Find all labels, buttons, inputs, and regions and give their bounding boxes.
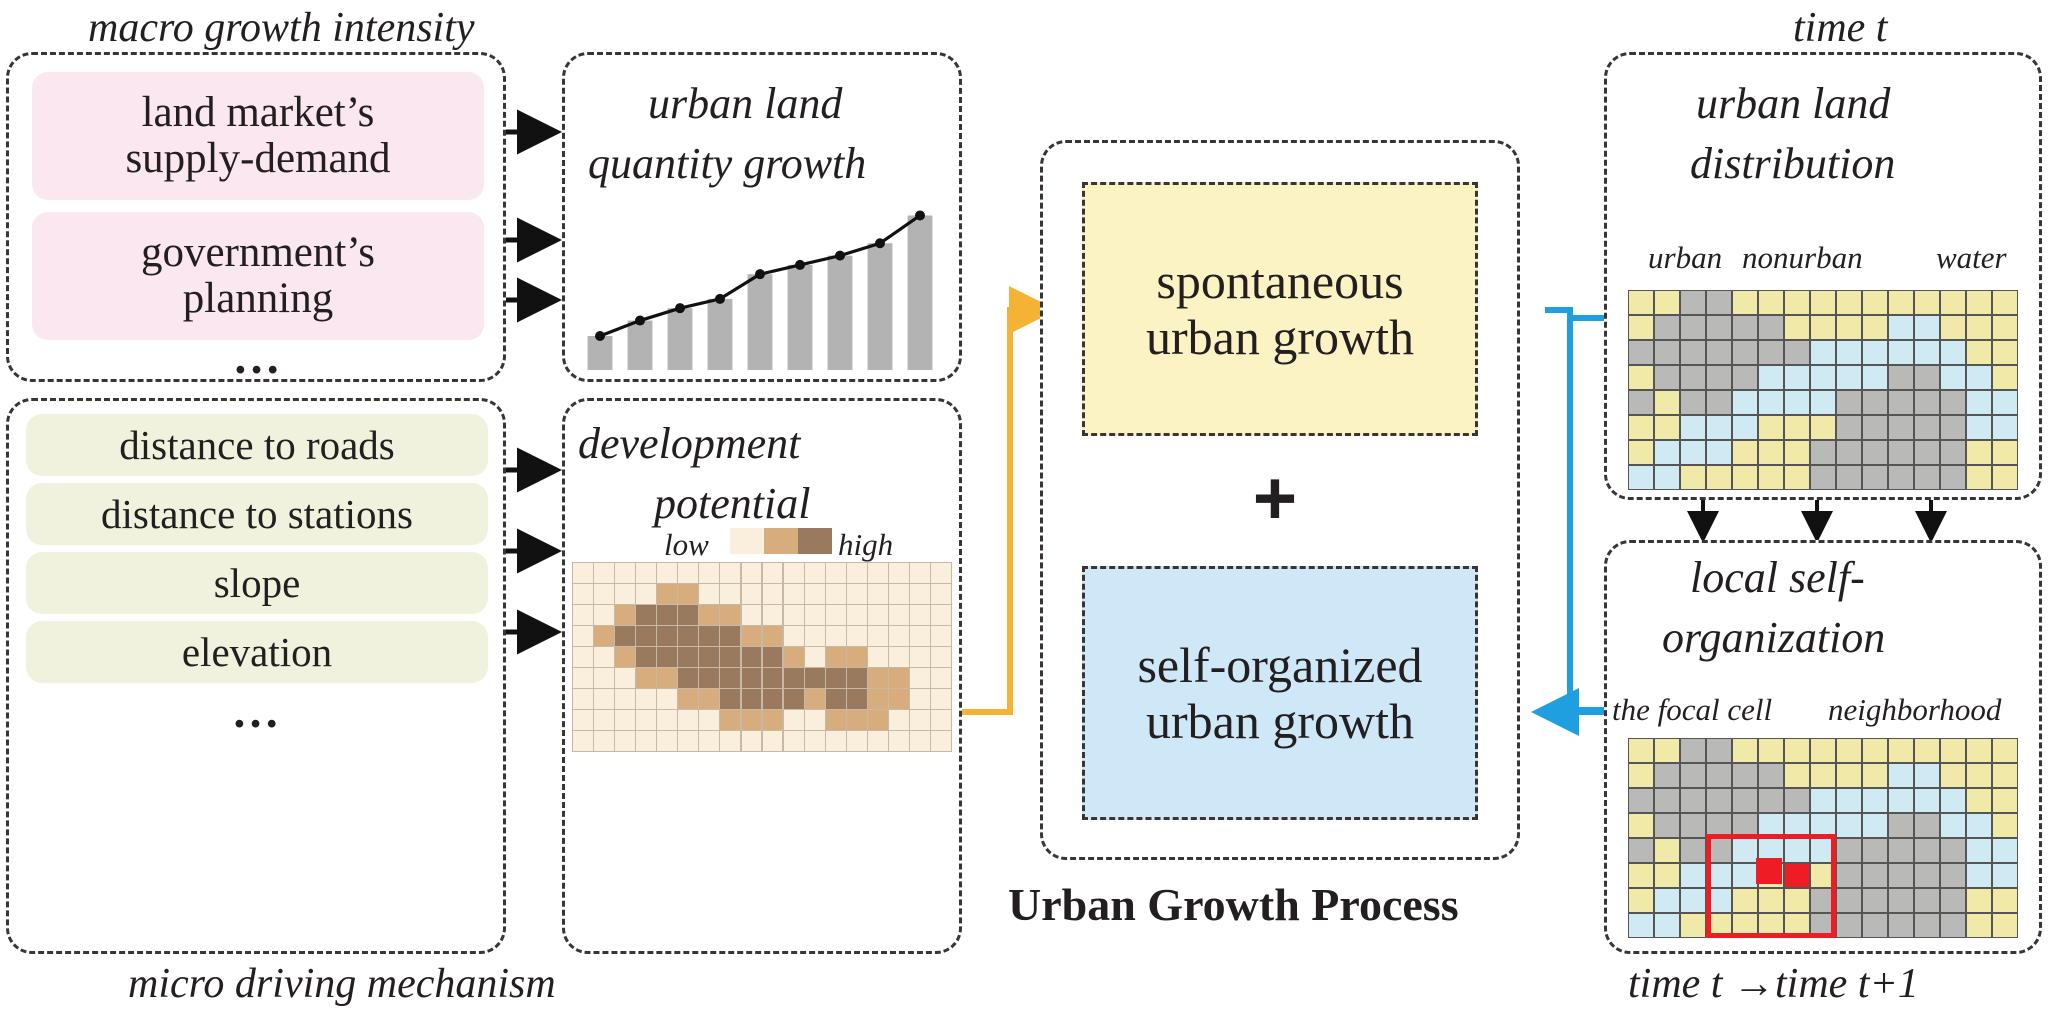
map-top-cell[interactable] xyxy=(1629,366,1653,389)
map-bottom-cell[interactable] xyxy=(1967,789,1991,812)
heatmap-cell[interactable] xyxy=(699,668,719,688)
map-bottom-cell[interactable] xyxy=(1681,864,1705,887)
map-bottom-cell[interactable] xyxy=(1967,739,1991,762)
self-organized-urban-growth-box[interactable]: self-organized urban growth xyxy=(1082,566,1478,820)
heatmap-cell[interactable] xyxy=(868,626,888,646)
map-bottom-cell[interactable] xyxy=(1655,739,1679,762)
heatmap-cell[interactable] xyxy=(636,668,656,688)
map-bottom-cell[interactable] xyxy=(1681,764,1705,787)
map-bottom-cell[interactable] xyxy=(1967,889,1991,912)
heatmap-cell[interactable] xyxy=(847,668,867,688)
map-bottom-cell[interactable] xyxy=(1681,839,1705,862)
heatmap-cell[interactable] xyxy=(742,563,762,583)
map-bottom-cell[interactable] xyxy=(1889,914,1913,937)
heatmap-cell[interactable] xyxy=(931,710,951,730)
heatmap-cell[interactable] xyxy=(657,626,677,646)
heatmap-cell[interactable] xyxy=(784,710,804,730)
map-bottom-cell[interactable] xyxy=(1629,839,1653,862)
heatmap-cell[interactable] xyxy=(784,626,804,646)
heatmap-cell[interactable] xyxy=(636,626,656,646)
map-top-cell[interactable] xyxy=(1889,466,1913,489)
map-bottom-cell[interactable] xyxy=(1915,889,1939,912)
map-bottom-cell[interactable] xyxy=(1941,739,1965,762)
map-bottom-cell[interactable] xyxy=(1941,914,1965,937)
map-bottom-cell[interactable] xyxy=(1837,814,1861,837)
heatmap-cell[interactable] xyxy=(868,689,888,709)
map-top-cell[interactable] xyxy=(1759,416,1783,439)
map-bottom-cell[interactable] xyxy=(1915,839,1939,862)
map-top-cell[interactable] xyxy=(1941,416,1965,439)
map-bottom-cell[interactable] xyxy=(1967,864,1991,887)
map-bottom-cell[interactable] xyxy=(1707,739,1731,762)
heatmap-cell[interactable] xyxy=(594,710,614,730)
heatmap-cell[interactable] xyxy=(805,710,825,730)
map-bottom-cell[interactable] xyxy=(1837,839,1861,862)
map-top-cell[interactable] xyxy=(1707,441,1731,464)
heatmap-cell[interactable] xyxy=(826,605,846,625)
heatmap-cell[interactable] xyxy=(763,731,783,751)
heatmap-cell[interactable] xyxy=(763,647,783,667)
heatmap-cell[interactable] xyxy=(784,584,804,604)
map-top-cell[interactable] xyxy=(1707,291,1731,314)
map-bottom-cell[interactable] xyxy=(1655,914,1679,937)
map-top-cell[interactable] xyxy=(1629,291,1653,314)
map-top-cell[interactable] xyxy=(1811,291,1835,314)
map-bottom-cell[interactable] xyxy=(1629,814,1653,837)
micro-item-elevation[interactable]: elevation xyxy=(26,621,488,683)
heatmap-cell[interactable] xyxy=(931,731,951,751)
heatmap-cell[interactable] xyxy=(742,647,762,667)
map-bottom-cell[interactable] xyxy=(1915,814,1939,837)
map-top-cell[interactable] xyxy=(1811,441,1835,464)
heatmap-cell[interactable] xyxy=(763,563,783,583)
map-bottom-cell[interactable] xyxy=(1967,764,1991,787)
heatmap-cell[interactable] xyxy=(594,689,614,709)
map-top-cell[interactable] xyxy=(1993,291,2017,314)
map-top-cell[interactable] xyxy=(1889,366,1913,389)
heatmap-cell[interactable] xyxy=(657,563,677,583)
heatmap-cell[interactable] xyxy=(678,647,698,667)
map-top-cell[interactable] xyxy=(1707,341,1731,364)
map-top-cell[interactable] xyxy=(1837,366,1861,389)
heatmap-cell[interactable] xyxy=(868,647,888,667)
heatmap-cell[interactable] xyxy=(868,731,888,751)
map-top-cell[interactable] xyxy=(1967,366,1991,389)
map-top-cell[interactable] xyxy=(1785,341,1809,364)
map-top-cell[interactable] xyxy=(1759,466,1783,489)
map-top-cell[interactable] xyxy=(1889,341,1913,364)
map-top-cell[interactable] xyxy=(1863,291,1887,314)
map-bottom-cell[interactable] xyxy=(1993,789,2017,812)
map-bottom-cell[interactable] xyxy=(1889,814,1913,837)
map-top-cell[interactable] xyxy=(1889,391,1913,414)
map-top-cell[interactable] xyxy=(1629,391,1653,414)
map-top-cell[interactable] xyxy=(1967,291,1991,314)
map-top-cell[interactable] xyxy=(1915,466,1939,489)
heatmap-cell[interactable] xyxy=(573,584,593,604)
heatmap-cell[interactable] xyxy=(573,626,593,646)
map-top-cell[interactable] xyxy=(1707,366,1731,389)
map-top-cell[interactable] xyxy=(1655,341,1679,364)
map-top-cell[interactable] xyxy=(1655,441,1679,464)
heatmap-cell[interactable] xyxy=(636,710,656,730)
heatmap-cell[interactable] xyxy=(742,668,762,688)
heatmap-cell[interactable] xyxy=(847,626,867,646)
heatmap-cell[interactable] xyxy=(889,584,909,604)
map-bottom-cell[interactable] xyxy=(1655,889,1679,912)
heatmap-cell[interactable] xyxy=(594,563,614,583)
heatmap-cell[interactable] xyxy=(615,605,635,625)
heatmap-cell[interactable] xyxy=(657,731,677,751)
heatmap-cell[interactable] xyxy=(868,563,888,583)
map-top-cell[interactable] xyxy=(1863,466,1887,489)
map-top-cell[interactable] xyxy=(1863,316,1887,339)
map-top-cell[interactable] xyxy=(1837,391,1861,414)
heatmap-cell[interactable] xyxy=(889,689,909,709)
heatmap-cell[interactable] xyxy=(678,689,698,709)
heatmap-cell[interactable] xyxy=(720,584,740,604)
map-top-cell[interactable] xyxy=(1837,291,1861,314)
heatmap-cell[interactable] xyxy=(910,668,930,688)
heatmap-cell[interactable] xyxy=(699,689,719,709)
map-top-cell[interactable] xyxy=(1655,366,1679,389)
map-top-cell[interactable] xyxy=(1655,416,1679,439)
map-bottom-cell[interactable] xyxy=(1941,789,1965,812)
heatmap-cell[interactable] xyxy=(636,731,656,751)
map-bottom-cell[interactable] xyxy=(1941,889,1965,912)
map-bottom-cell[interactable] xyxy=(1629,739,1653,762)
map-bottom-cell[interactable] xyxy=(1629,889,1653,912)
heatmap-cell[interactable] xyxy=(826,584,846,604)
heatmap-cell[interactable] xyxy=(763,605,783,625)
heatmap-cell[interactable] xyxy=(678,731,698,751)
map-bottom-cell[interactable] xyxy=(1655,839,1679,862)
map-bottom-cell[interactable] xyxy=(1655,864,1679,887)
map-top-cell[interactable] xyxy=(1889,291,1913,314)
heatmap-cell[interactable] xyxy=(573,563,593,583)
heatmap-cell[interactable] xyxy=(636,584,656,604)
map-bottom-cell[interactable] xyxy=(1863,789,1887,812)
heatmap-cell[interactable] xyxy=(889,605,909,625)
heatmap-cell[interactable] xyxy=(636,563,656,583)
heatmap-cell[interactable] xyxy=(847,605,867,625)
map-bottom-cell[interactable] xyxy=(1889,889,1913,912)
map-top-cell[interactable] xyxy=(1837,316,1861,339)
heatmap-cell[interactable] xyxy=(868,710,888,730)
map-bottom-cell[interactable] xyxy=(1681,789,1705,812)
heatmap-cell[interactable] xyxy=(868,605,888,625)
map-top-cell[interactable] xyxy=(1785,366,1809,389)
map-bottom-cell[interactable] xyxy=(1707,789,1731,812)
map-bottom-cell[interactable] xyxy=(1863,864,1887,887)
map-top-cell[interactable] xyxy=(1733,316,1757,339)
map-top-cell[interactable] xyxy=(1681,466,1705,489)
heatmap-cell[interactable] xyxy=(720,563,740,583)
heatmap-cell[interactable] xyxy=(910,605,930,625)
heatmap-cell[interactable] xyxy=(720,731,740,751)
map-top-cell[interactable] xyxy=(1681,341,1705,364)
map-bottom-cell[interactable] xyxy=(1837,914,1861,937)
heatmap-cell[interactable] xyxy=(763,710,783,730)
heatmap-cell[interactable] xyxy=(847,731,867,751)
heatmap-cell[interactable] xyxy=(678,668,698,688)
heatmap-cell[interactable] xyxy=(615,689,635,709)
map-bottom-cell[interactable] xyxy=(1655,814,1679,837)
map-top-cell[interactable] xyxy=(1759,291,1783,314)
map-bottom-cell[interactable] xyxy=(1629,789,1653,812)
map-top-cell[interactable] xyxy=(1681,391,1705,414)
map-bottom-cell[interactable] xyxy=(1811,739,1835,762)
heatmap-cell[interactable] xyxy=(805,668,825,688)
micro-item-distance-to-roads[interactable]: distance to roads xyxy=(26,414,488,476)
heatmap-cell[interactable] xyxy=(678,626,698,646)
map-top-cell[interactable] xyxy=(1629,416,1653,439)
map-top-cell[interactable] xyxy=(1941,291,1965,314)
map-bottom-cell[interactable] xyxy=(1733,789,1757,812)
map-bottom-cell[interactable] xyxy=(1811,764,1835,787)
heatmap-cell[interactable] xyxy=(931,689,951,709)
map-top-cell[interactable] xyxy=(1889,416,1913,439)
map-bottom-cell[interactable] xyxy=(1941,864,1965,887)
heatmap-cell[interactable] xyxy=(678,563,698,583)
map-top-cell[interactable] xyxy=(1785,441,1809,464)
heatmap-cell[interactable] xyxy=(763,668,783,688)
map-bottom-cell[interactable] xyxy=(1785,789,1809,812)
heatmap-cell[interactable] xyxy=(594,605,614,625)
map-bottom-cell[interactable] xyxy=(1993,764,2017,787)
map-bottom-cell[interactable] xyxy=(1759,739,1783,762)
heatmap-cell[interactable] xyxy=(826,563,846,583)
map-bottom-cell[interactable] xyxy=(1681,914,1705,937)
map-bottom-cell[interactable] xyxy=(1863,764,1887,787)
heatmap-cell[interactable] xyxy=(763,584,783,604)
heatmap-cell[interactable] xyxy=(742,605,762,625)
map-top-cell[interactable] xyxy=(1759,341,1783,364)
map-bottom-cell[interactable] xyxy=(1811,789,1835,812)
heatmap-cell[interactable] xyxy=(889,668,909,688)
heatmap-cell[interactable] xyxy=(805,689,825,709)
heatmap-cell[interactable] xyxy=(910,689,930,709)
map-top-cell[interactable] xyxy=(1993,341,2017,364)
map-bottom-cell[interactable] xyxy=(1785,739,1809,762)
map-top-cell[interactable] xyxy=(1785,291,1809,314)
heatmap-cell[interactable] xyxy=(826,647,846,667)
heatmap-cell[interactable] xyxy=(573,668,593,688)
map-bottom-cell[interactable] xyxy=(1837,764,1861,787)
heatmap-cell[interactable] xyxy=(805,731,825,751)
map-top-cell[interactable] xyxy=(1993,466,2017,489)
heatmap-cell[interactable] xyxy=(636,605,656,625)
map-top-cell[interactable] xyxy=(1629,441,1653,464)
map-top-cell[interactable] xyxy=(1967,466,1991,489)
map-top-cell[interactable] xyxy=(1915,341,1939,364)
map-bottom-cell[interactable] xyxy=(1681,814,1705,837)
map-bottom-cell[interactable] xyxy=(1967,814,1991,837)
heatmap-cell[interactable] xyxy=(573,605,593,625)
map-top-cell[interactable] xyxy=(1837,466,1861,489)
heatmap-cell[interactable] xyxy=(615,731,635,751)
map-top-cell[interactable] xyxy=(1707,391,1731,414)
heatmap-cell[interactable] xyxy=(784,668,804,688)
map-top-cell[interactable] xyxy=(1655,316,1679,339)
map-top-cell[interactable] xyxy=(1707,466,1731,489)
heatmap-cell[interactable] xyxy=(868,668,888,688)
map-top-cell[interactable] xyxy=(1993,366,2017,389)
heatmap-cell[interactable] xyxy=(805,626,825,646)
heatmap-cell[interactable] xyxy=(784,689,804,709)
macro-item-land-market[interactable]: land market’s supply-demand xyxy=(32,72,484,200)
map-top-cell[interactable] xyxy=(1863,416,1887,439)
map-top-cell[interactable] xyxy=(1811,391,1835,414)
map-bottom-cell[interactable] xyxy=(1785,764,1809,787)
heatmap-cell[interactable] xyxy=(699,605,719,625)
map-bottom-cell[interactable] xyxy=(1655,764,1679,787)
map-bottom-cell[interactable] xyxy=(1733,764,1757,787)
heatmap-cell[interactable] xyxy=(826,626,846,646)
map-top-cell[interactable] xyxy=(1733,441,1757,464)
map-bottom-cell[interactable] xyxy=(1941,764,1965,787)
heatmap-cell[interactable] xyxy=(573,710,593,730)
map-top-cell[interactable] xyxy=(1629,466,1653,489)
heatmap-cell[interactable] xyxy=(910,647,930,667)
map-top-cell[interactable] xyxy=(1889,316,1913,339)
map-top-cell[interactable] xyxy=(1629,341,1653,364)
heatmap-cell[interactable] xyxy=(868,584,888,604)
map-top-cell[interactable] xyxy=(1993,316,2017,339)
heatmap-cell[interactable] xyxy=(678,584,698,604)
map-bottom-cell[interactable] xyxy=(1993,814,2017,837)
map-top-cell[interactable] xyxy=(1863,366,1887,389)
map-bottom-cell[interactable] xyxy=(1915,739,1939,762)
heatmap-cell[interactable] xyxy=(805,584,825,604)
map-top-cell[interactable] xyxy=(1759,391,1783,414)
heatmap-cell[interactable] xyxy=(720,710,740,730)
heatmap-cell[interactable] xyxy=(889,731,909,751)
heatmap-cell[interactable] xyxy=(889,626,909,646)
heatmap-cell[interactable] xyxy=(742,584,762,604)
heatmap-cell[interactable] xyxy=(763,626,783,646)
map-bottom-cell[interactable] xyxy=(1655,789,1679,812)
map-top-cell[interactable] xyxy=(1759,316,1783,339)
heatmap-cell[interactable] xyxy=(657,647,677,667)
map-top-cell[interactable] xyxy=(1967,316,1991,339)
heatmap-cell[interactable] xyxy=(657,584,677,604)
map-bottom-cell[interactable] xyxy=(1993,839,2017,862)
heatmap-cell[interactable] xyxy=(699,563,719,583)
heatmap-cell[interactable] xyxy=(931,626,951,646)
map-bottom-cell[interactable] xyxy=(1863,914,1887,937)
map-top-cell[interactable] xyxy=(1993,391,2017,414)
map-bottom-cell[interactable] xyxy=(1629,914,1653,937)
map-top-cell[interactable] xyxy=(1785,316,1809,339)
heatmap-cell[interactable] xyxy=(678,605,698,625)
map-top-cell[interactable] xyxy=(1941,466,1965,489)
map-bottom-cell[interactable] xyxy=(1993,889,2017,912)
map-top-cell[interactable] xyxy=(1915,441,1939,464)
map-bottom-cell[interactable] xyxy=(1707,764,1731,787)
map-top-cell[interactable] xyxy=(1681,441,1705,464)
map-top-cell[interactable] xyxy=(1941,391,1965,414)
heatmap-cell[interactable] xyxy=(594,584,614,604)
heatmap-cell[interactable] xyxy=(784,647,804,667)
urban-land-distribution-map[interactable] xyxy=(1628,290,2018,490)
map-top-cell[interactable] xyxy=(1993,416,2017,439)
map-bottom-cell[interactable] xyxy=(1759,764,1783,787)
heatmap-cell[interactable] xyxy=(594,731,614,751)
heatmap-cell[interactable] xyxy=(657,689,677,709)
heatmap-cell[interactable] xyxy=(573,689,593,709)
map-bottom-cell[interactable] xyxy=(1629,864,1653,887)
heatmap-cell[interactable] xyxy=(742,731,762,751)
map-top-cell[interactable] xyxy=(1681,316,1705,339)
map-bottom-cell[interactable] xyxy=(1863,839,1887,862)
heatmap-cell[interactable] xyxy=(636,689,656,709)
heatmap-cell[interactable] xyxy=(931,647,951,667)
map-top-cell[interactable] xyxy=(1915,316,1939,339)
map-top-cell[interactable] xyxy=(1733,416,1757,439)
map-top-cell[interactable] xyxy=(1915,391,1939,414)
map-bottom-cell[interactable] xyxy=(1837,864,1861,887)
heatmap-cell[interactable] xyxy=(805,647,825,667)
map-top-cell[interactable] xyxy=(1655,466,1679,489)
heatmap-cell[interactable] xyxy=(699,647,719,667)
map-bottom-cell[interactable] xyxy=(1733,739,1757,762)
heatmap-cell[interactable] xyxy=(784,605,804,625)
map-top-cell[interactable] xyxy=(1811,466,1835,489)
heatmap-cell[interactable] xyxy=(784,563,804,583)
heatmap-cell[interactable] xyxy=(594,647,614,667)
heatmap-cell[interactable] xyxy=(805,563,825,583)
heatmap-cell[interactable] xyxy=(931,605,951,625)
heatmap-cell[interactable] xyxy=(636,647,656,667)
spontaneous-urban-growth-box[interactable]: spontaneous urban growth xyxy=(1082,182,1478,436)
map-top-cell[interactable] xyxy=(1993,441,2017,464)
map-top-cell[interactable] xyxy=(1733,391,1757,414)
heatmap-cell[interactable] xyxy=(720,689,740,709)
map-top-cell[interactable] xyxy=(1941,341,1965,364)
map-top-cell[interactable] xyxy=(1941,441,1965,464)
map-bottom-cell[interactable] xyxy=(1993,914,2017,937)
map-top-cell[interactable] xyxy=(1733,366,1757,389)
heatmap-cell[interactable] xyxy=(889,647,909,667)
heatmap-cell[interactable] xyxy=(826,731,846,751)
heatmap-cell[interactable] xyxy=(889,563,909,583)
map-bottom-cell[interactable] xyxy=(1759,789,1783,812)
map-top-cell[interactable] xyxy=(1811,316,1835,339)
map-bottom-cell[interactable] xyxy=(1915,789,1939,812)
map-bottom-cell[interactable] xyxy=(1993,739,2017,762)
map-bottom-cell[interactable] xyxy=(1967,914,1991,937)
map-bottom-cell[interactable] xyxy=(1889,739,1913,762)
heatmap-cell[interactable] xyxy=(615,710,635,730)
heatmap-cell[interactable] xyxy=(910,731,930,751)
map-top-cell[interactable] xyxy=(1785,391,1809,414)
heatmap-cell[interactable] xyxy=(931,563,951,583)
heatmap-cell[interactable] xyxy=(699,584,719,604)
map-top-cell[interactable] xyxy=(1837,341,1861,364)
heatmap-cell[interactable] xyxy=(594,668,614,688)
heatmap-cell[interactable] xyxy=(931,584,951,604)
map-top-cell[interactable] xyxy=(1785,416,1809,439)
heatmap-cell[interactable] xyxy=(720,647,740,667)
heatmap-cell[interactable] xyxy=(615,647,635,667)
heatmap-cell[interactable] xyxy=(910,584,930,604)
heatmap-cell[interactable] xyxy=(573,731,593,751)
map-top-cell[interactable] xyxy=(1759,441,1783,464)
heatmap-cell[interactable] xyxy=(742,689,762,709)
heatmap-cell[interactable] xyxy=(742,626,762,646)
map-top-cell[interactable] xyxy=(1655,391,1679,414)
